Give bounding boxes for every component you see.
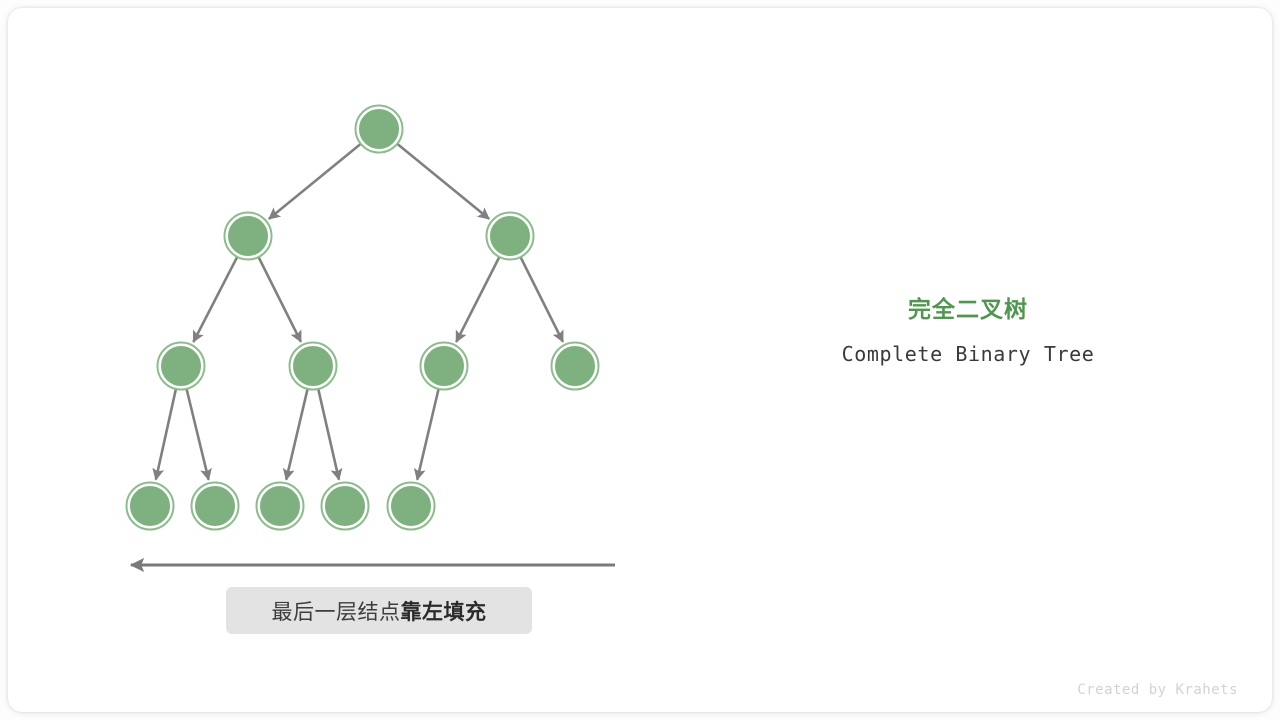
tree-edge	[193, 257, 237, 342]
diagram-canvas: 完全二叉树 Complete Binary Tree 最后一层结点靠左填充 Cr…	[0, 0, 1280, 720]
tree-node-circle	[227, 215, 269, 257]
tree-node[interactable]	[290, 343, 337, 390]
tree-node-circle	[489, 215, 531, 257]
tree-node[interactable]	[487, 213, 534, 260]
tree-node-circle	[129, 485, 171, 527]
tree-node[interactable]	[257, 483, 304, 530]
title-chinese: 完全二叉树	[768, 294, 1168, 324]
tree-node-circle	[194, 485, 236, 527]
tree-node[interactable]	[127, 483, 174, 530]
tree-node-circle	[324, 485, 366, 527]
tree-edge	[259, 257, 301, 341]
tree-node[interactable]	[552, 343, 599, 390]
tree-nodes	[127, 106, 599, 530]
tree-node[interactable]	[421, 343, 468, 390]
tree-node-circle	[358, 108, 400, 150]
watermark: Created by Krahets	[1077, 682, 1238, 698]
tree-node[interactable]	[322, 483, 369, 530]
tree-node-circle	[292, 345, 334, 387]
tree-edge	[398, 144, 490, 219]
caption-text: 最后一层结点靠左填充	[272, 596, 487, 626]
tree-node[interactable]	[225, 213, 272, 260]
tree-edge	[417, 389, 438, 479]
tree-node-circle	[390, 485, 432, 527]
caption-prefix: 最后一层结点	[272, 601, 401, 624]
caption-emphasis: 靠左填充	[401, 601, 487, 624]
tree-node[interactable]	[192, 483, 239, 530]
tree-edge	[456, 257, 499, 342]
tree-node-circle	[423, 345, 465, 387]
tree-edge	[269, 144, 361, 219]
tree-edges	[156, 144, 563, 480]
tree-node[interactable]	[388, 483, 435, 530]
tree-edge	[156, 389, 176, 479]
tree-node[interactable]	[356, 106, 403, 153]
tree-node-circle	[160, 345, 202, 387]
tree-edge	[521, 257, 563, 341]
tree-node-circle	[554, 345, 596, 387]
tree-node[interactable]	[158, 343, 205, 390]
tree-edge	[286, 389, 307, 479]
tree-node-circle	[259, 485, 301, 527]
legend-titles: 完全二叉树 Complete Binary Tree	[768, 294, 1168, 367]
tree-edge	[318, 389, 339, 479]
title-english: Complete Binary Tree	[768, 341, 1168, 367]
caption-pill: 最后一层结点靠左填充	[226, 587, 532, 634]
tree-edge	[187, 389, 209, 479]
